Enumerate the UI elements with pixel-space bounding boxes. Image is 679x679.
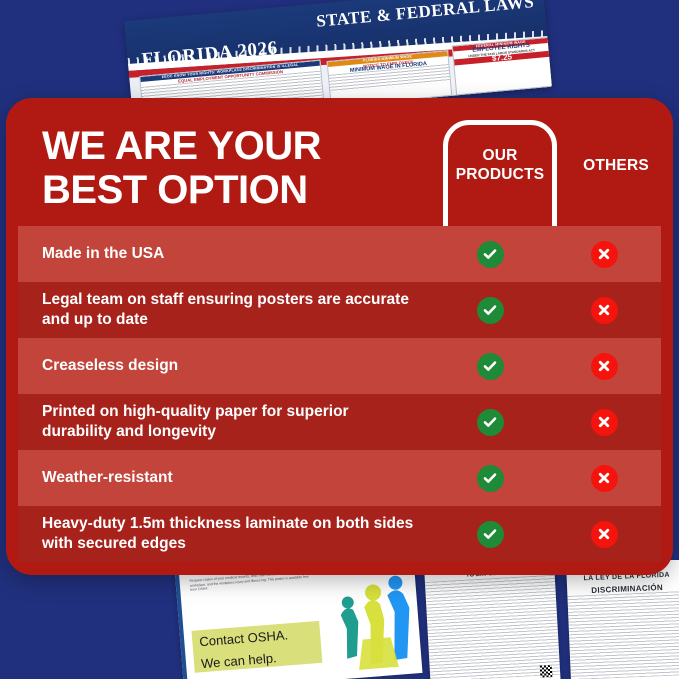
spanish-body — [567, 591, 679, 679]
bottom-poster-osha: Request copies of your medical records, … — [175, 560, 423, 679]
check-icon — [477, 521, 504, 548]
column-header-our-products: OUR PRODUCTS — [443, 146, 557, 184]
feature-label: Legal team on staff ensuring posters are… — [18, 282, 433, 338]
cross-icon — [591, 241, 618, 268]
others-cell — [547, 297, 661, 324]
cross-icon — [591, 297, 618, 324]
feature-label: Creaseless design — [18, 348, 433, 384]
check-icon — [477, 353, 504, 380]
osha-workers-illustration — [318, 573, 423, 679]
others-cell — [547, 409, 661, 436]
bottom-poster-nlrb: UNITED STATES OF AMERICA TO EMPLOYEES — [424, 560, 561, 679]
comparison-card: WE ARE YOUR BEST OPTION OUR PRODUCTS OTH… — [6, 98, 673, 575]
our-products-cell — [433, 465, 547, 492]
our-products-cell — [433, 297, 547, 324]
cross-icon — [591, 409, 618, 436]
others-cell — [547, 241, 661, 268]
comparison-table: Made in the USALegal team on staff ensur… — [18, 226, 661, 562]
our-products-cell — [433, 521, 547, 548]
poster-notice-fed-wage: FEDERAL MINIMUM WAGE EMPLOYEE RIGHTS UND… — [452, 37, 552, 96]
cross-icon — [591, 465, 618, 492]
table-row: Printed on high-quality paper for superi… — [18, 394, 661, 450]
table-row: Creaseless design — [18, 338, 661, 394]
feature-label: Heavy-duty 1.5m thickness laminate on bo… — [18, 506, 433, 562]
cross-icon — [591, 353, 618, 380]
table-row: Weather-resistant — [18, 450, 661, 506]
others-cell — [547, 353, 661, 380]
table-row: Legal team on staff ensuring posters are… — [18, 282, 661, 338]
feature-label: Made in the USA — [18, 236, 433, 272]
nlrb-qr-code — [540, 665, 553, 678]
bottom-posters-image: Request copies of your medical records, … — [0, 560, 679, 679]
our-products-cell — [433, 353, 547, 380]
poster-banner-title: STATE & FEDERAL LAWS — [315, 0, 535, 32]
table-row: Made in the USA — [18, 226, 661, 282]
check-icon — [477, 409, 504, 436]
others-cell — [547, 465, 661, 492]
osha-cta-box: Contact OSHA. We can help. — [192, 621, 323, 673]
feature-label: Printed on high-quality paper for superi… — [18, 394, 433, 450]
feature-label: Weather-resistant — [18, 460, 433, 496]
check-icon — [477, 241, 504, 268]
infographic-canvas: FLORIDA 2026 STATE & FEDERAL LAWS EEOC K… — [0, 0, 679, 679]
check-icon — [477, 465, 504, 492]
our-products-cell — [433, 241, 547, 268]
column-header-others: OTHERS — [566, 156, 666, 175]
cross-icon — [591, 521, 618, 548]
bottom-poster-spanish: LA LEY DE LA FLORIDA DISCRIMINACIÓN — [566, 560, 679, 679]
others-cell — [547, 521, 661, 548]
table-row: Heavy-duty 1.5m thickness laminate on bo… — [18, 506, 661, 562]
page-title: WE ARE YOUR BEST OPTION — [42, 124, 422, 212]
check-icon — [477, 297, 504, 324]
our-products-cell — [433, 409, 547, 436]
nlrb-body — [425, 575, 560, 679]
